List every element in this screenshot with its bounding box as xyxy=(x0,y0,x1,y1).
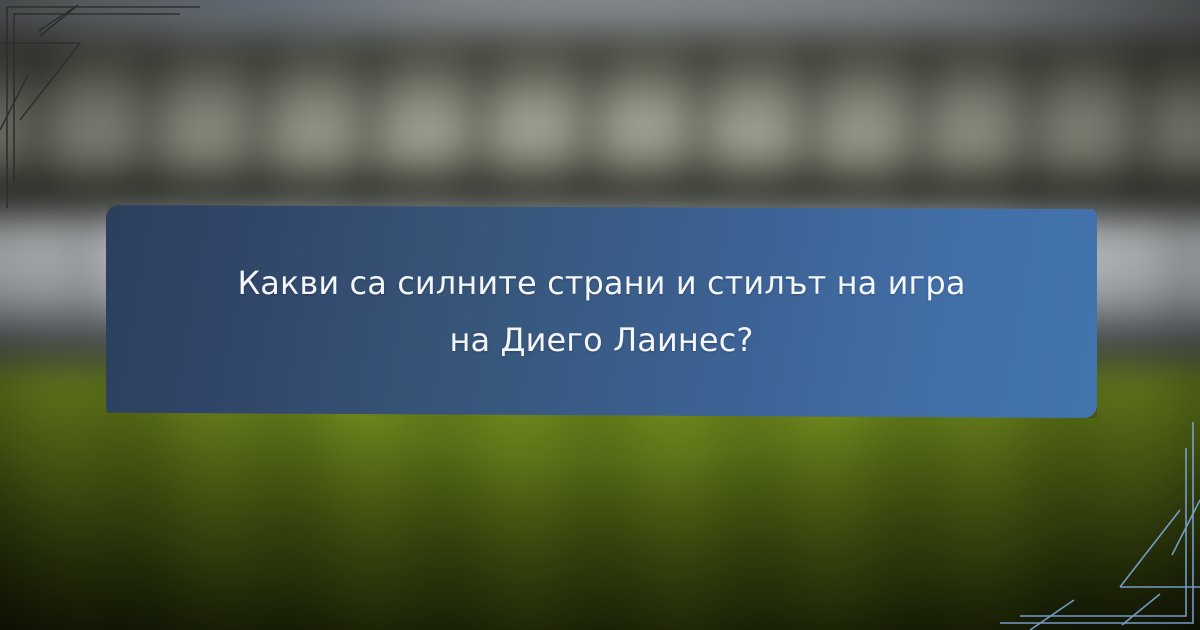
headline-card: Какви са силните страни и стилът на игра… xyxy=(106,205,1097,418)
page-title: Какви са силните страни и стилът на игра… xyxy=(106,255,1097,369)
share-card-canvas: Какви са силните страни и стилът на игра… xyxy=(0,0,1200,630)
